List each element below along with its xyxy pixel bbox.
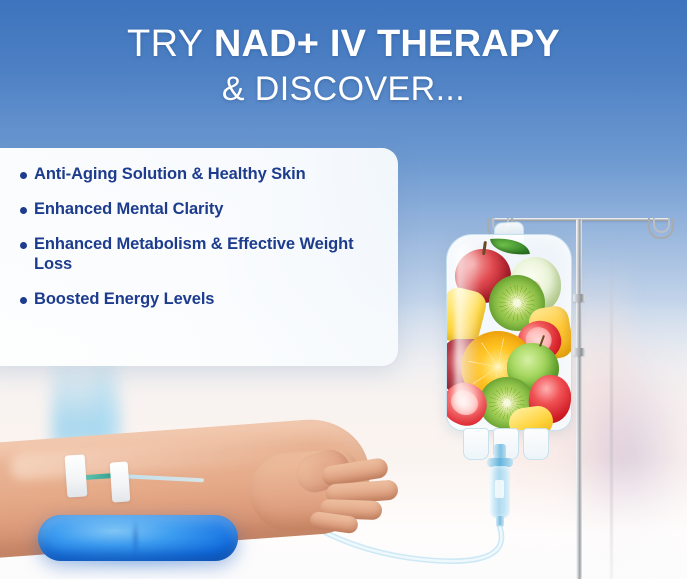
medical-tape-strip bbox=[110, 461, 131, 502]
promo-graphic: TRY NAD+ IV THERAPY & DISCOVER... Anti-A… bbox=[0, 0, 687, 579]
cushion-seam bbox=[132, 518, 139, 558]
medical-tape-strip bbox=[65, 454, 88, 497]
